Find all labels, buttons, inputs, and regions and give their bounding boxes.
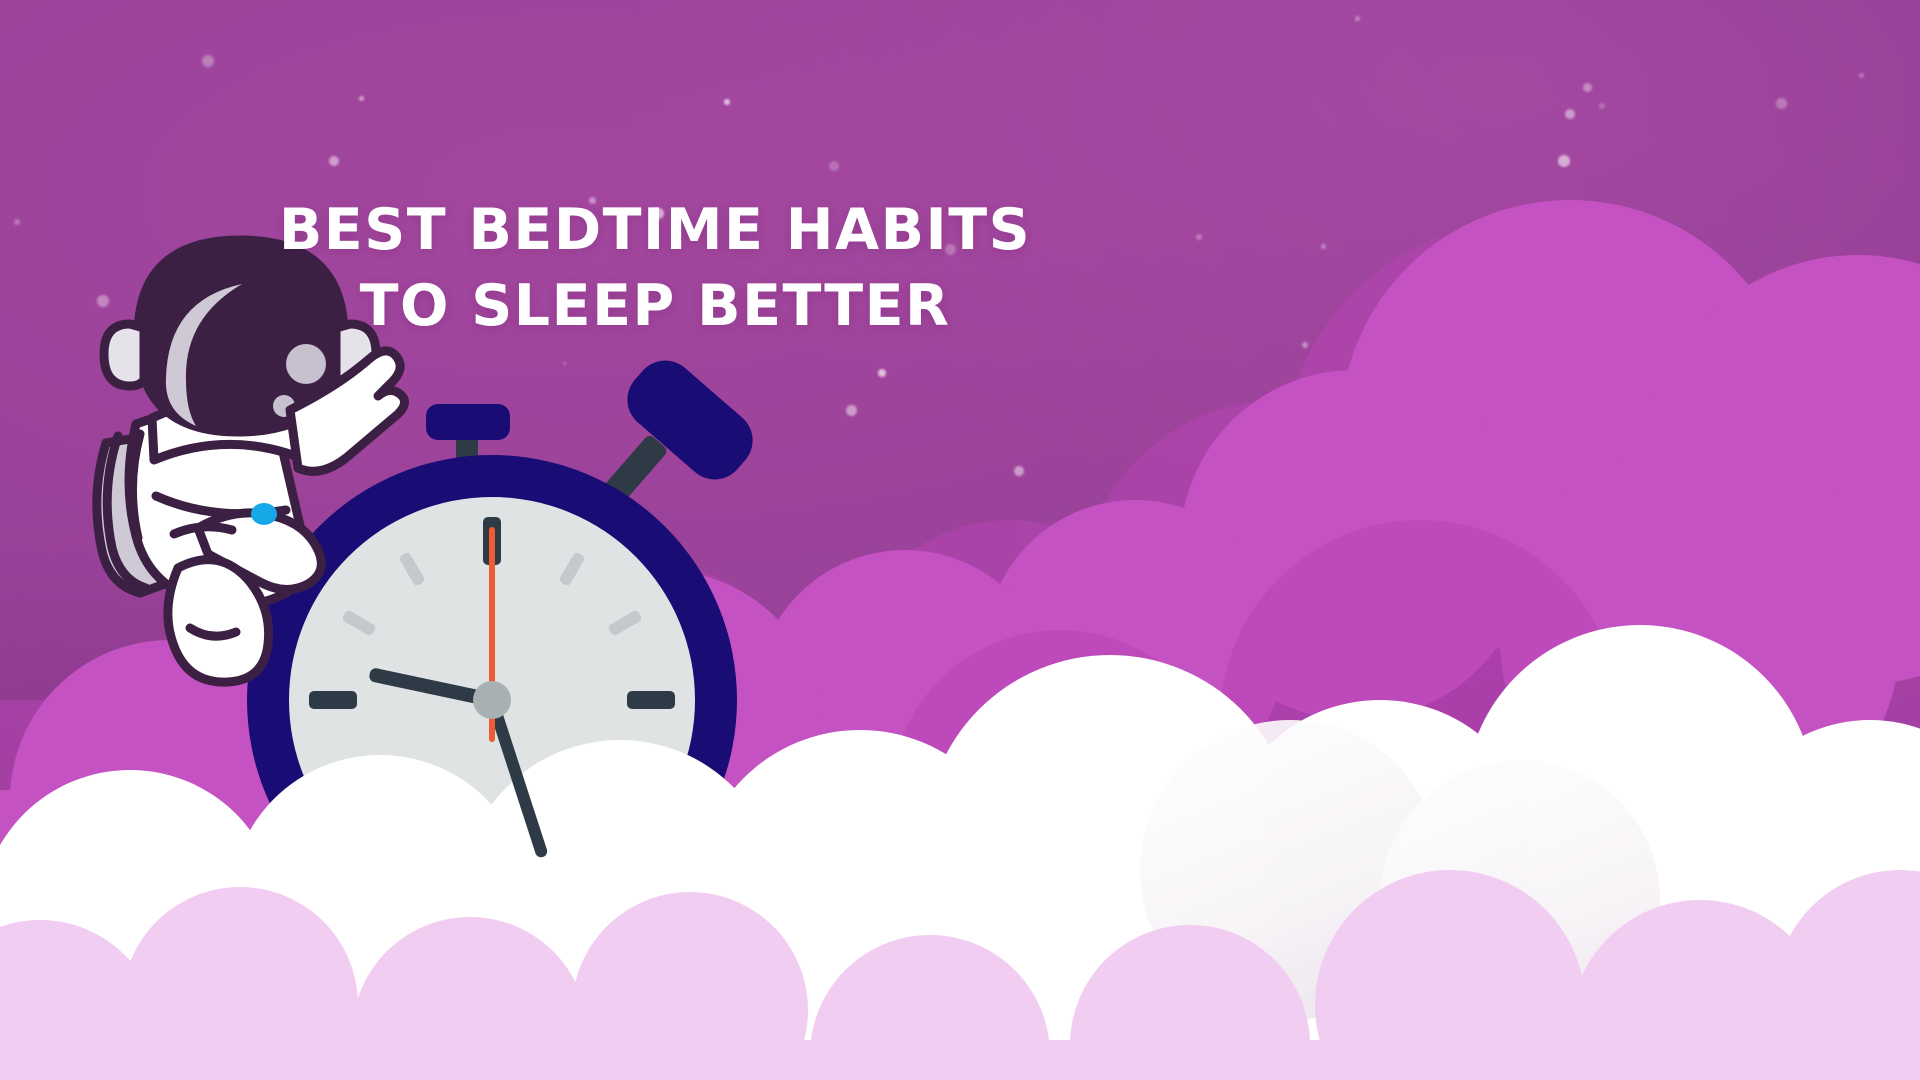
- poster-canvas: BEST BEDTIME HABITS TO SLEEP BETTER: [0, 0, 1920, 1080]
- title-line-1: BEST BEDTIME HABITS: [0, 192, 1310, 268]
- cloud-layer-pink-front: [0, 0, 1920, 1080]
- poster-title: BEST BEDTIME HABITS TO SLEEP BETTER: [0, 192, 1310, 344]
- title-line-2: TO SLEEP BETTER: [0, 268, 1310, 344]
- clock-center-hub: [473, 681, 511, 719]
